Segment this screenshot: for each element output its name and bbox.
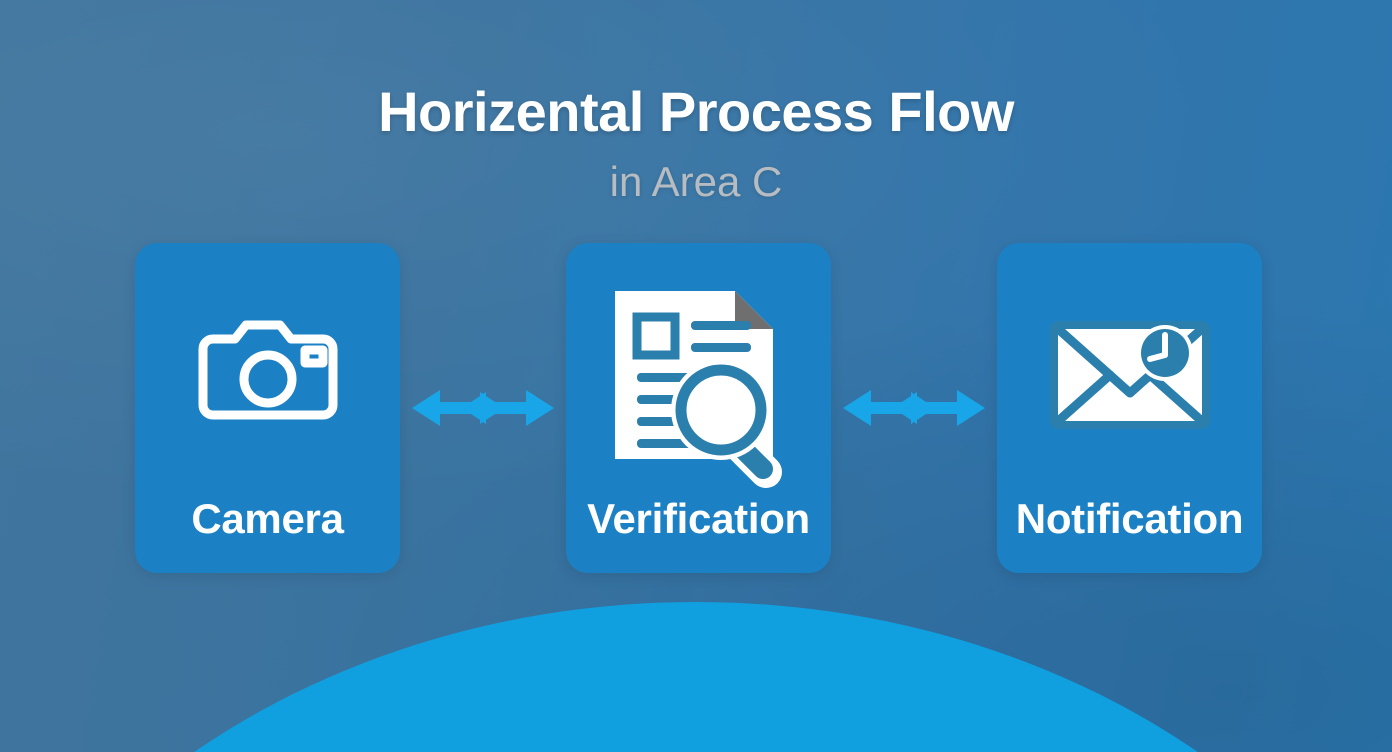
page-title: Horizental Process Flow [0, 0, 1392, 140]
camera-icon [168, 285, 368, 465]
flow-step-verification[interactable]: Verification [566, 243, 831, 573]
flow-step-camera[interactable]: Camera [135, 243, 400, 573]
double-arrow-2 [831, 378, 997, 438]
double-headed-arrow-icon [410, 385, 556, 431]
slide-canvas: Horizental Process Flow in Area C Camera [0, 0, 1392, 752]
flow-step-label: Notification [997, 498, 1262, 540]
flow-step-label: Verification [566, 498, 831, 540]
page-subtitle: in Area C [0, 140, 1392, 203]
double-arrow-1 [400, 378, 566, 438]
header: Horizental Process Flow in Area C [0, 0, 1392, 203]
double-headed-arrow-icon [841, 385, 987, 431]
bottom-dome-shape [0, 602, 1392, 752]
envelope-clock-icon [1030, 285, 1230, 465]
document-magnifier-icon [599, 285, 799, 465]
flow-step-label: Camera [135, 498, 400, 540]
process-flow-row: Camera [135, 243, 1261, 573]
flow-step-notification[interactable]: Notification [997, 243, 1262, 573]
